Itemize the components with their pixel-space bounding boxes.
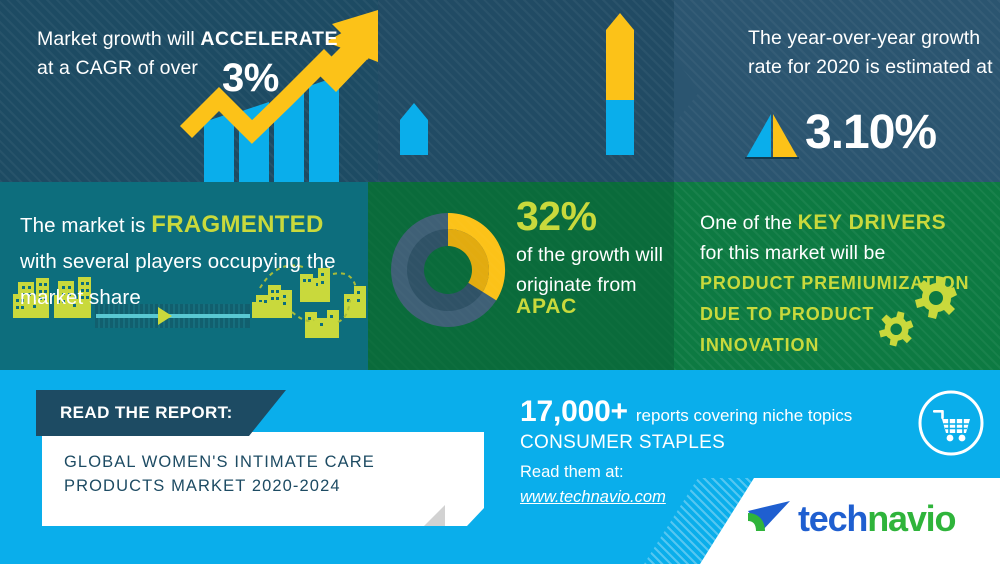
footer-top-stripe [0,370,1000,375]
panel-incremental: INCREMENTAL GROWTH $ 299.26 mn 2019 2024 [378,0,674,182]
apac-text-line2: originate from [516,274,637,296]
driver-line-2: DUE TO PRODUCT [700,299,990,330]
apac-headline: of the growth will originate from [516,240,686,300]
driver-line-3: INNOVATION [700,330,990,361]
shopping-cart-icon[interactable] [916,388,986,458]
yoy-headline: The year-over-year growth rate for 2020 … [748,24,998,82]
cagr-headline: Market growth will ACCELERATE at a CAGR … [37,25,347,83]
technavio-wordmark: technavio [798,498,955,540]
yoy-text-line1: The year-over-year growth [748,27,980,49]
cagr-text-part1: Market growth will [37,28,200,50]
report-card[interactable]: GLOBAL WOMEN'S INTIMATE CARE PRODUCTS MA… [42,432,484,526]
technavio-mark-icon [744,497,792,541]
yoy-text-line2: rate for 2020 is estimated at [748,56,993,78]
drivers-text-part1: One of the [700,212,798,234]
fragmented-text-part1: The market is [20,214,151,237]
drivers-text-part2: for this market will be [700,242,885,264]
cagr-value: 3% [222,56,279,101]
drivers-headline: One of the KEY DRIVERS for this market w… [700,208,990,361]
driver-line-1: PRODUCT PREMIUMIZATION [700,268,990,299]
reports-caption: reports covering niche topics [636,406,852,425]
apac-text-line1: of the growth will [516,244,663,266]
growth-triangle-icon [742,112,802,160]
incremental-bar-chart [378,0,674,182]
infographic-root: Market growth will ACCELERATE at a CAGR … [0,0,1000,564]
cagr-text-bold: ACCELERATE [200,28,338,50]
apac-region: APAC [516,295,577,319]
logo-text-tech: tech [798,498,867,539]
reports-count: 17,000+ [520,395,628,428]
technavio-logo: technavio [744,497,955,541]
yoy-value: 3.10% [805,105,936,160]
sector-label: CONSUMER STAPLES [520,432,920,454]
fragmented-text-bold: FRAGMENTED [151,211,323,238]
fragmented-headline: The market is FRAGMENTED with several pl… [20,207,350,316]
read-the-report-label: READ THE REPORT: [60,403,233,423]
panel-cagr: Market growth will ACCELERATE at a CAGR … [0,0,378,182]
fragmented-text-part3: market share [20,286,141,309]
drivers-text-bold: KEY DRIVERS [798,211,947,234]
technavio-website-link[interactable]: www.technavio.com [520,488,666,507]
cagr-text-part2: at a CAGR of over [37,57,198,79]
apac-percent: 32% [516,193,597,240]
read-the-report-banner[interactable]: READ THE REPORT: [36,390,286,436]
fragmented-text-part2: with several players occupying the [20,250,336,273]
logo-text-navio: navio [867,498,955,539]
report-title: GLOBAL WOMEN'S INTIMATE CARE PRODUCTS MA… [64,450,464,498]
